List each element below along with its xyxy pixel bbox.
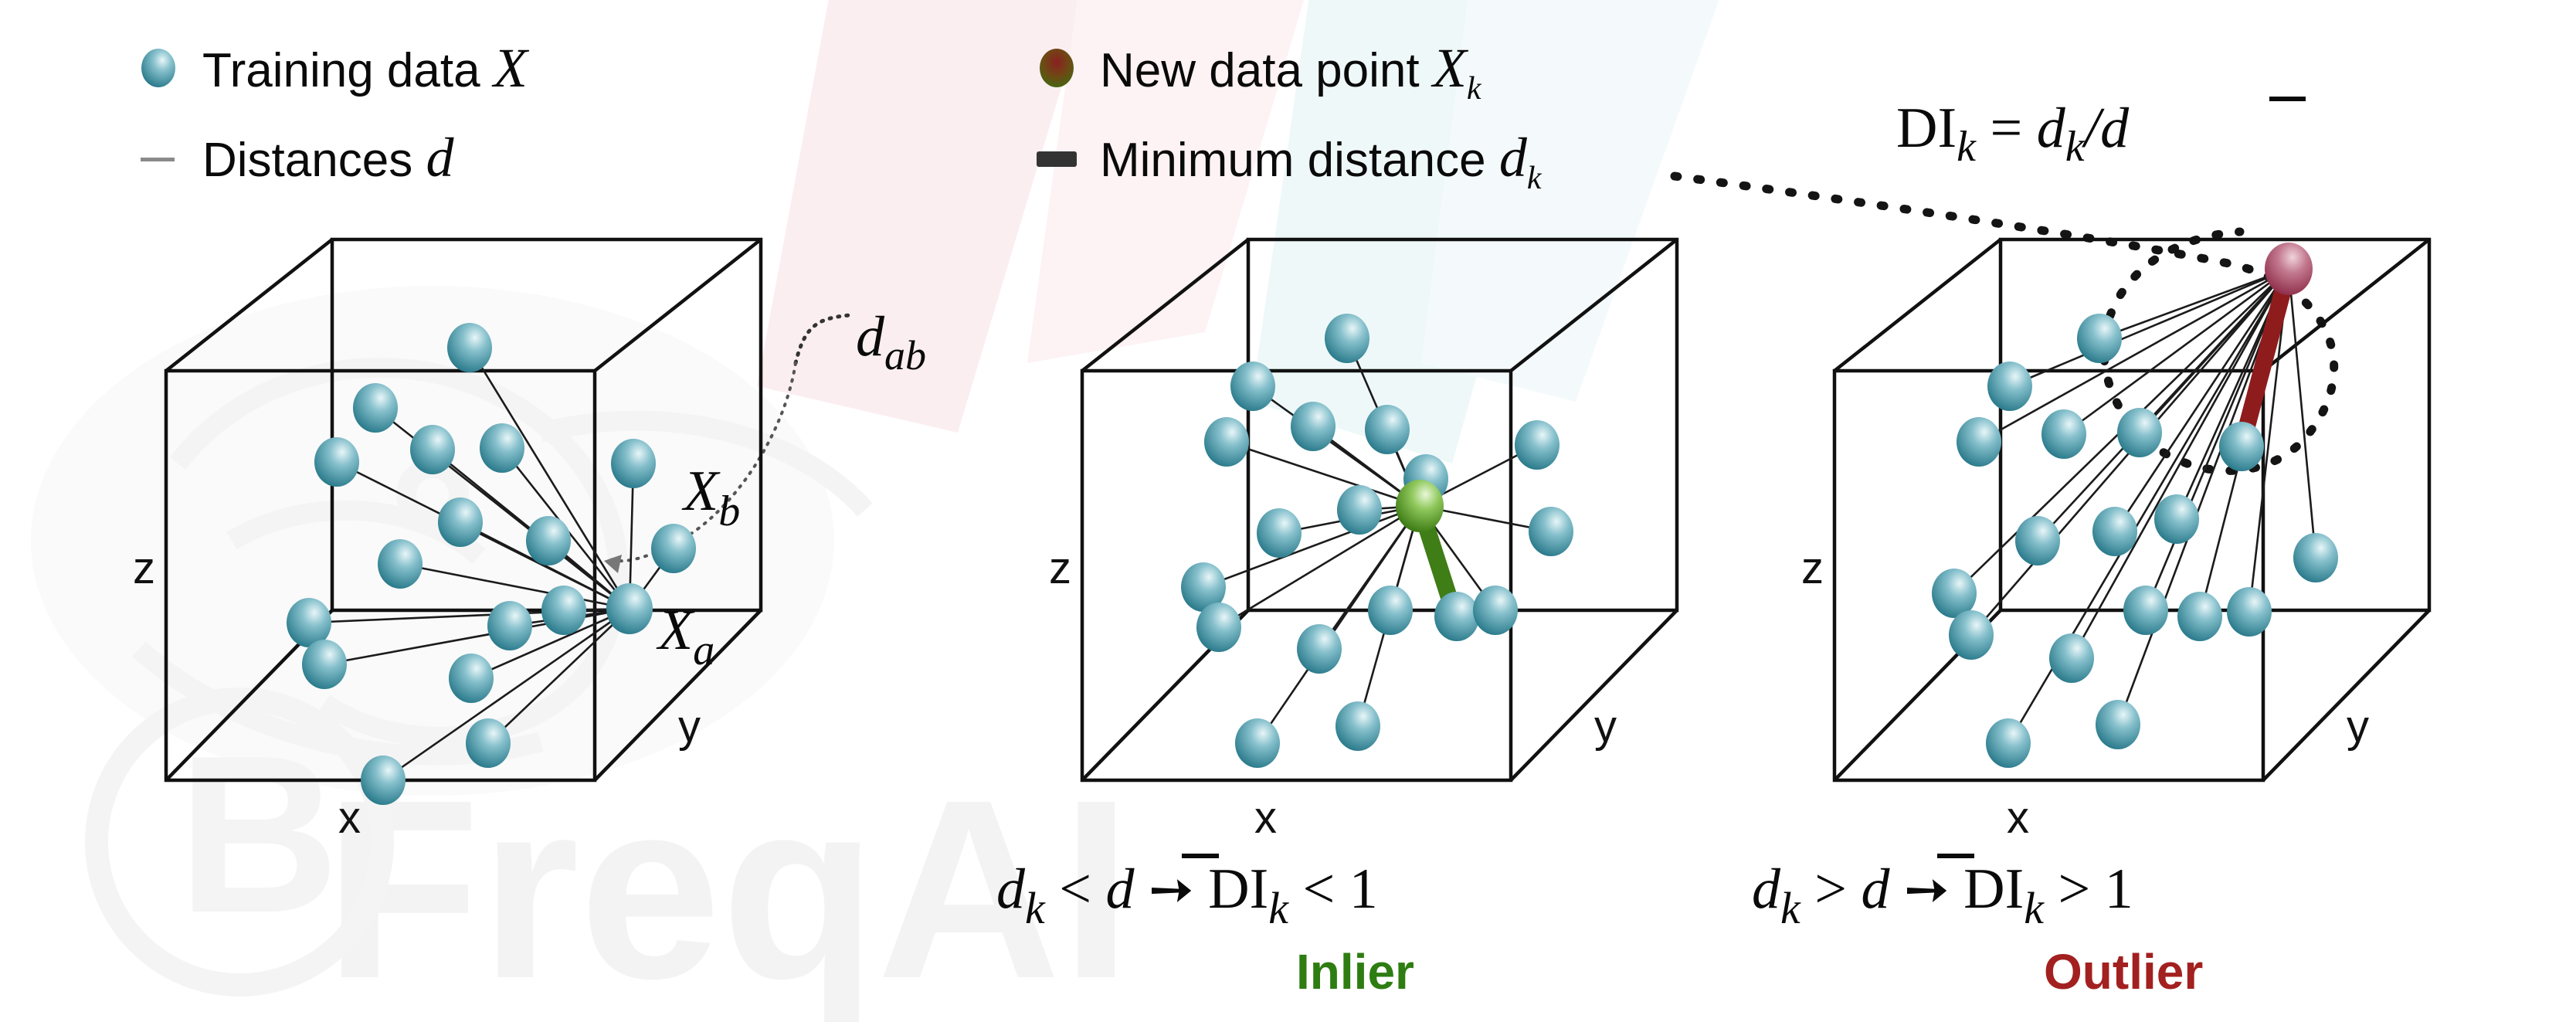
svg-text:DIk = dk/d: DIk = dk/d [1896,97,2130,171]
data-point [2096,700,2140,749]
data-point [2049,633,2094,683]
data-point [2015,516,2060,565]
axis-label-z-1: z [133,543,155,593]
data-point [526,516,571,565]
data-point [449,654,494,703]
data-point [302,640,347,689]
axis-label-y-3: y [2347,701,2369,752]
new-point-marker-icon [1040,49,1074,87]
new-data-point-inlier [1396,480,1444,532]
data-point [447,323,492,372]
data-point [1473,586,1518,635]
data-point [361,755,406,805]
data-point [1291,402,1336,451]
figure-root: FreqAI B [0,0,2576,1022]
status-badge-inlier: Inlier [1296,944,1414,1000]
data-point [2154,494,2199,544]
axis-label-y-1: y [678,701,701,752]
data-point [2041,409,2086,459]
data-point [2077,314,2122,363]
caption-outlier-formula: dk > d ➙ DIk > 1 [1752,856,2133,933]
data-point [1336,701,1380,751]
data-spheres-1 [287,323,696,805]
formula-di-definition: DIk = dk/d [1896,97,2306,171]
data-point [410,425,455,474]
data-point [611,439,656,488]
data-point [1230,362,1275,411]
status-badge-outlier: Outlier [2044,944,2203,1000]
caption-inlier-formula: dk < d ➙ DIk < 1 [996,856,1378,933]
cube-training-data: z y x [133,239,761,843]
data-point [487,601,532,650]
data-point [438,497,483,547]
thick-dash-marker-icon [1037,151,1077,167]
data-point [378,539,423,589]
data-point [2177,592,2222,641]
data-point-nearest [2219,422,2264,471]
data-point [1235,718,1280,768]
sphere-marker-icon [141,49,175,87]
label-dab: dab [856,305,926,379]
data-point [1257,508,1302,558]
data-point [314,437,359,487]
label-xb: Xb [681,460,740,535]
svg-text:dk < d ➙ DIk < 1: dk < d ➙ DIk < 1 [996,857,1378,933]
data-point [1365,405,1410,454]
data-point [1949,610,1994,660]
data-point-xa [606,583,653,634]
legend-label-training-data: Training data X [202,37,530,99]
legend-label-minimum-distance: Minimum distance dk [1100,127,1543,196]
data-point [1337,485,1382,535]
data-point [1957,417,2001,467]
data-point [466,718,511,768]
cube-frame-3 [1834,239,2429,780]
data-point [1529,507,1573,556]
data-point [1297,624,1342,674]
data-point [1204,417,1249,467]
data-point [651,524,696,573]
data-point [1986,718,2031,768]
axis-label-y-2: y [1594,701,1617,752]
legend-right: New data point Xk Minimum distance dk [1037,37,1543,196]
data-point [1434,592,1479,641]
diagram-layer: Training data X Distances d New data poi… [0,0,2576,1022]
axis-label-x-1: x [338,793,361,843]
axis-label-x-3: x [2007,793,2029,843]
data-point [541,586,586,635]
legend-label-distances: Distances d [202,127,454,188]
data-point [353,383,398,433]
data-point [2092,507,2137,556]
data-spheres-2 [1181,314,1573,768]
cube-outlier: z y x [1801,239,2429,843]
axis-label-x-2: x [1254,793,1277,843]
new-data-point-outlier [2265,243,2313,295]
data-point [2117,408,2162,457]
data-point [2293,533,2338,582]
legend-label-new-data-point: New data point Xk [1100,37,1482,107]
data-point [2123,586,2168,635]
data-point [1368,586,1413,635]
legend-left: Training data X Distances d [141,37,530,188]
dash-marker-icon [141,158,175,161]
data-point [1515,420,1560,470]
data-point [1987,362,2032,411]
data-point [2227,587,2272,637]
data-point [1196,603,1241,652]
axis-label-z-3: z [1801,543,1824,593]
data-point [1325,314,1369,363]
data-point [480,423,524,473]
axis-label-z-2: z [1049,543,1071,593]
mirror-legend-training: Training data [0,0,1,1]
cube-inlier: z y x [1049,239,1677,843]
svg-text:dk > d ➙ DIk > 1: dk > d ➙ DIk > 1 [1752,857,2133,933]
